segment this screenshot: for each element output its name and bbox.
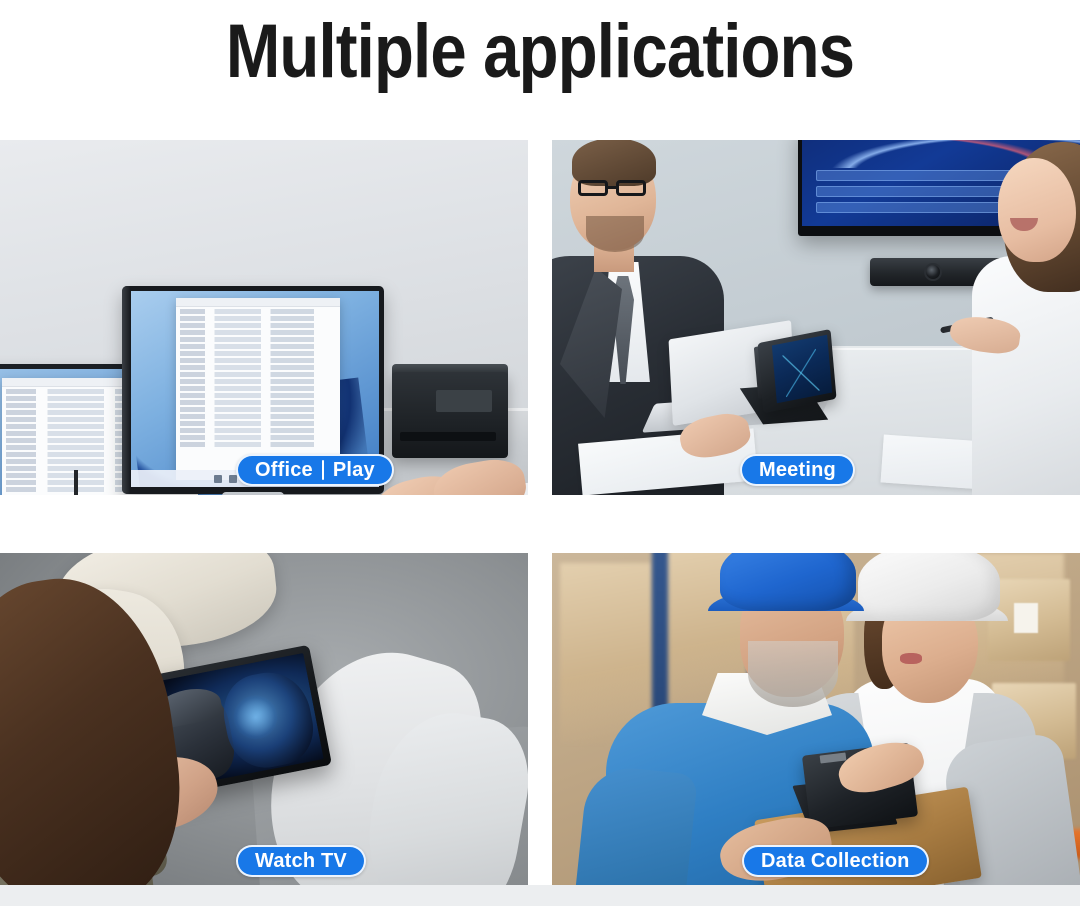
badge-label-office: Office [255, 459, 313, 482]
watch-tv-scene [0, 553, 528, 885]
office-play-scene [0, 140, 528, 495]
badge-meeting[interactable]: Meeting [740, 454, 855, 486]
data-collection-scene [552, 553, 1080, 885]
page-root: Multiple applications [0, 0, 1080, 906]
badge-divider [322, 460, 324, 480]
panel-watch-tv[interactable]: Watch TV [0, 553, 528, 885]
badge-label-data-collection: Data Collection [761, 850, 910, 873]
badge-label-watch-tv: Watch TV [255, 850, 347, 873]
printer-control-panel [436, 390, 492, 412]
badge-label-meeting: Meeting [759, 459, 836, 482]
spreadsheet-toolbar [176, 298, 340, 307]
panel-meeting[interactable]: Meeting [552, 140, 1080, 495]
man-beard [586, 216, 644, 252]
panel-data-collection[interactable]: Data Collection [552, 553, 1080, 885]
printer-body [392, 372, 508, 458]
glasses-icon [576, 180, 656, 196]
box-label [1014, 603, 1038, 633]
badge-label-play: Play [333, 459, 375, 482]
blue-hard-hat [720, 553, 856, 611]
woman-lips [900, 653, 922, 664]
badge-watch-tv[interactable]: Watch TV [236, 845, 366, 877]
man-beard [748, 641, 838, 707]
badge-data-collection[interactable]: Data Collection [742, 845, 929, 877]
spreadsheet-window-right [176, 298, 340, 480]
footer-band [0, 885, 1080, 906]
monitor-right-stand [222, 492, 284, 495]
printer-paper-slot [400, 432, 496, 441]
portable-monitor-graph [782, 349, 819, 397]
monitor-right-bezel [122, 286, 131, 494]
camera-lens-icon [924, 263, 942, 281]
page-title: Multiple applications [76, 2, 1005, 102]
usb-cable [74, 470, 160, 495]
panel-office-play[interactable]: Office Play [0, 140, 528, 495]
white-hard-hat [858, 553, 1000, 621]
badge-office-play[interactable]: Office Play [236, 454, 394, 486]
meeting-scene [552, 140, 1080, 495]
